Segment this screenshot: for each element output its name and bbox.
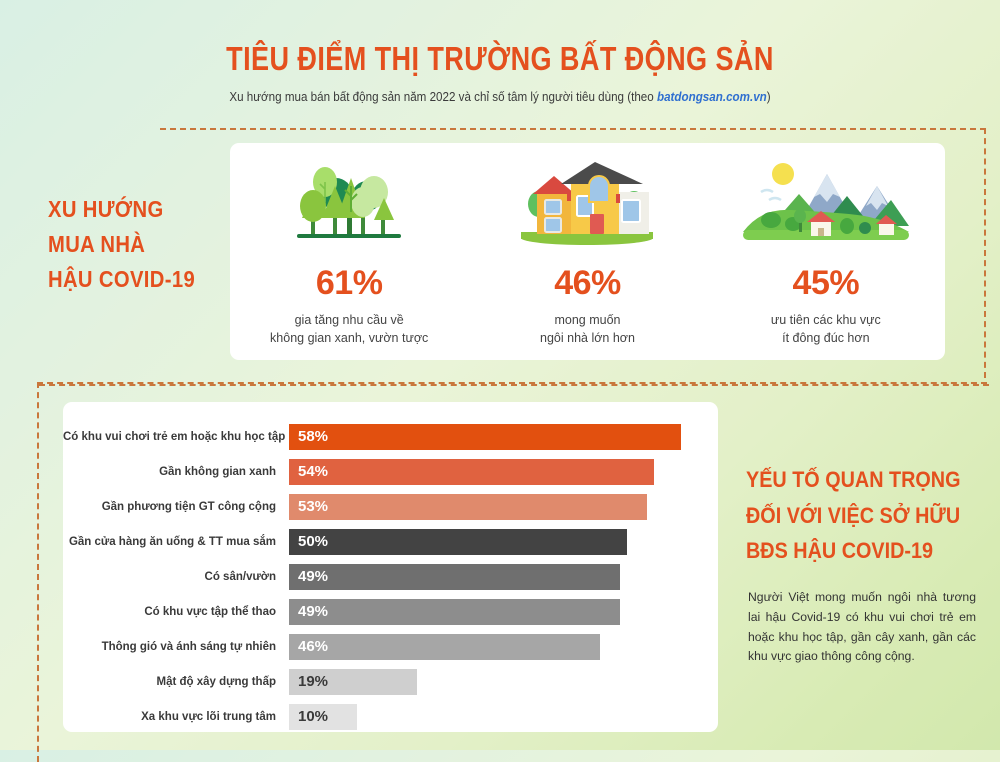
page-title: TIÊU ĐIỂM THỊ TRƯỜNG BẤT ĐỘNG SẢN [90, 40, 910, 78]
stat-percent: 61% [316, 264, 383, 303]
stat-caption: mong muốn ngôi nhà lớn hơn [540, 311, 635, 347]
section-heading-important-factors: YẾU TỐ QUAN TRỌNG ĐỐI VỚI VIỆC SỞ HỮU BĐ… [746, 462, 996, 569]
stat-caption-line-1: mong muốn [554, 313, 620, 327]
bar-category-label: Có khu vực tập thể thao [63, 606, 289, 618]
bar-row: Thông gió và ánh sáng tự nhiên46% [63, 630, 718, 663]
bar-track: 46% [289, 634, 718, 660]
bar-track: 54% [289, 459, 718, 485]
bar-row: Có khu vui chơi trẻ em hoặc khu học tập5… [63, 420, 718, 453]
subtitle-text-after: ) [767, 90, 771, 104]
section-heading-buying-trends: XU HƯỚNG MUA NHÀ HẬU COVID-19 [48, 192, 223, 297]
stats-card: 61% gia tăng nhu cầu về không gian xanh,… [230, 143, 945, 360]
bar-track: 49% [289, 599, 718, 625]
bar-track: 19% [289, 669, 718, 695]
summary-paragraph: Người Việt mong muốn ngôi nhà tương lai … [748, 588, 976, 667]
bar-row: Có khu vực tập thể thao49% [63, 595, 718, 628]
bar-category-label: Xa khu vực lõi trung tâm [63, 711, 289, 723]
stat-caption-line-1: ưu tiên các khu vực [771, 313, 881, 327]
bar-fill: 46% [289, 634, 600, 660]
stat-caption-line-2: không gian xanh, vườn tược [270, 331, 428, 345]
bar-track: 53% [289, 494, 718, 520]
right-heading-line-1: YẾU TỐ QUAN TRỌNG [746, 462, 971, 498]
stat-percent: 45% [793, 264, 860, 303]
stat-caption: ưu tiên các khu vực ít đông đúc hơn [771, 311, 881, 347]
bar-row: Gần cửa hàng ăn uống & TT mua sắm50% [63, 525, 718, 558]
bar-track: 58% [289, 424, 718, 450]
bar-category-label: Có khu vui chơi trẻ em hoặc khu học tập [63, 431, 289, 443]
bar-fill: 54% [289, 459, 654, 485]
stat-item-bigger-house: 46% mong muốn ngôi nhà lớn hơn [468, 143, 706, 360]
stat-item-green-space: 61% gia tăng nhu cầu về không gian xanh,… [230, 143, 468, 360]
subtitle-text-before: Xu hướng mua bán bất động sản năm 2022 v… [229, 90, 657, 104]
bar-row: Gần không gian xanh54% [63, 455, 718, 488]
bar-row: Gần phương tiện GT công cộng53% [63, 490, 718, 523]
stat-item-less-crowded: 45% ưu tiên các khu vực ít đông đúc hơn [707, 143, 945, 360]
stat-percent: 46% [554, 264, 621, 303]
left-heading-line-1: XU HƯỚNG [48, 192, 202, 227]
bar-rows: Có khu vui chơi trẻ em hoặc khu học tập5… [63, 420, 718, 735]
bar-fill: 49% [289, 599, 620, 625]
bar-row: Có sân/vườn49% [63, 560, 718, 593]
left-heading-line-3: HẬU COVID-19 [48, 262, 202, 297]
bar-fill: 10% [289, 704, 357, 730]
bar-track: 10% [289, 704, 718, 730]
bar-track: 49% [289, 564, 718, 590]
right-heading-line-3: BĐS HẬU COVID-19 [746, 533, 971, 569]
stat-caption-line-2: ít đông đúc hơn [782, 331, 869, 345]
bar-fill: 19% [289, 669, 417, 695]
bar-row: Mật độ xây dựng thấp19% [63, 665, 718, 698]
bar-fill: 50% [289, 529, 627, 555]
left-heading-line-2: MUA NHÀ [48, 227, 202, 262]
bar-category-label: Gần cửa hàng ăn uống & TT mua sắm [63, 536, 289, 548]
stat-caption-line-2: ngôi nhà lớn hơn [540, 331, 635, 345]
stat-caption: gia tăng nhu cầu về không gian xanh, vườ… [270, 311, 428, 347]
large-house-icon [519, 143, 655, 248]
page-subtitle: Xu hướng mua bán bất động sản năm 2022 v… [35, 90, 965, 104]
bar-category-label: Gần phương tiện GT công cộng [63, 501, 289, 513]
bar-row: Xa khu vực lõi trung tâm10% [63, 700, 718, 733]
header: TIÊU ĐIỂM THỊ TRƯỜNG BẤT ĐỘNG SẢN Xu hướ… [0, 40, 1000, 104]
bar-fill: 49% [289, 564, 620, 590]
bar-fill: 53% [289, 494, 647, 520]
bar-fill: 58% [289, 424, 681, 450]
bar-track: 50% [289, 529, 718, 555]
source-link[interactable]: batdongsan.com.vn [657, 90, 767, 104]
right-heading-line-2: ĐỐI VỚI VIỆC SỞ HỮU [746, 498, 971, 534]
bar-category-label: Thông gió và ánh sáng tự nhiên [63, 641, 289, 653]
forest-trees-icon [289, 143, 409, 248]
factors-bar-chart: Có khu vui chơi trẻ em hoặc khu học tập5… [63, 402, 718, 732]
countryside-mountains-icon [741, 143, 911, 248]
bar-category-label: Gần không gian xanh [63, 466, 289, 478]
bar-category-label: Có sân/vườn [63, 571, 289, 583]
bar-category-label: Mật độ xây dựng thấp [63, 676, 289, 688]
stat-caption-line-1: gia tăng nhu cầu về [295, 313, 404, 327]
